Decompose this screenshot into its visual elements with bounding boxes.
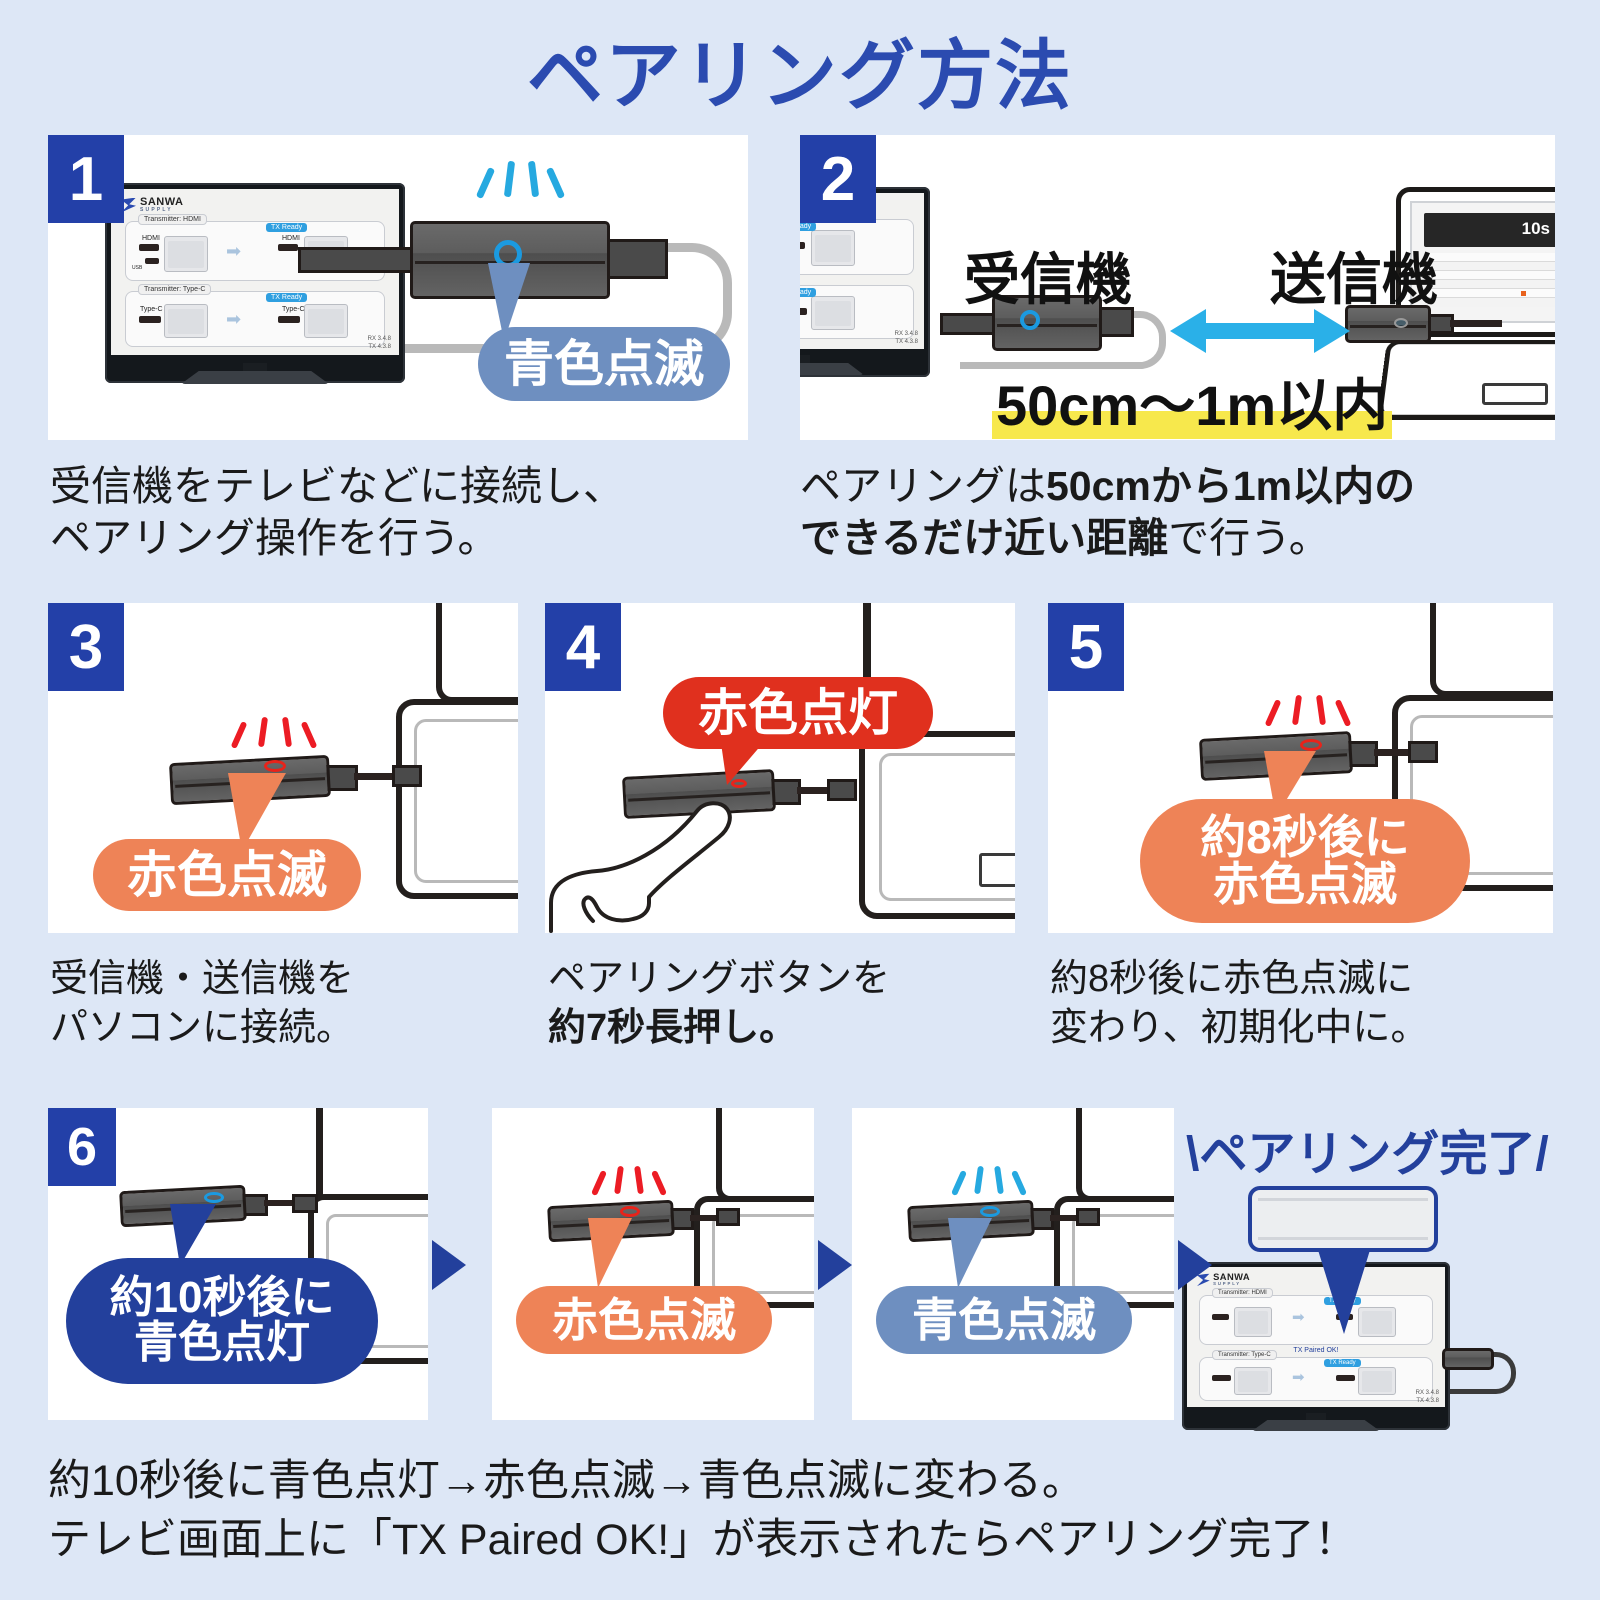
step-1-caption-line1: 受信機をテレビなどに接続し、 xyxy=(50,460,770,512)
step-5-caption-line2: 変わり、初期化中に。 xyxy=(1050,1004,1550,1053)
tv-laptop-icon xyxy=(164,236,208,272)
sequence-panel-red-blink: 赤色点滅 xyxy=(492,1108,814,1420)
step-5-badge-line1: 約8秒後に xyxy=(1200,814,1410,861)
receiver-dongle-complete xyxy=(1442,1348,1494,1370)
step-2-caption: ペアリングは50cmから1m以内の できるだけ近い距離で行う。 xyxy=(800,460,1590,564)
step-1-caption-line2: ペアリング操作を行う。 xyxy=(50,512,770,564)
step-1-number: 1 xyxy=(48,135,124,223)
laptop-illustration xyxy=(825,603,1015,933)
receiver-cable-tail xyxy=(1450,1389,1496,1394)
step-4-caption-line1: ペアリングボタンを xyxy=(548,955,1028,1004)
tv-group-typec-label: Transmitter: Type-C xyxy=(138,284,211,295)
typec-port-label: Type-C xyxy=(140,306,163,313)
laptop-lid xyxy=(1076,1108,1174,1202)
tv-laptop-icon-4 xyxy=(304,304,348,338)
hdmi-plug-icon xyxy=(139,244,159,251)
dongle-usb-plug xyxy=(292,1194,318,1213)
flash-ray-icon xyxy=(258,717,268,748)
flash-ray-icon xyxy=(528,161,539,198)
tv-laptop-icon xyxy=(811,296,855,330)
flash-ray-icon xyxy=(634,1166,644,1195)
step-2-caption-normal-b: で行う。 xyxy=(1168,515,1330,561)
typec-plug-icon-2 xyxy=(278,316,300,323)
step-4-panel: 4 赤色点灯 xyxy=(545,603,1015,933)
laptop-illustration xyxy=(1052,1108,1174,1418)
dongle-seam xyxy=(1350,325,1426,328)
step-2-caption-line1: ペアリングは50cmから1m以内の xyxy=(800,460,1590,512)
sequence-arrow-3-icon xyxy=(1178,1240,1212,1290)
badge-pointer-icon xyxy=(721,743,763,785)
bottom-caption-line2: テレビ画面上に「TX Paired OK!」が表示されたらペアリング完了！ xyxy=(48,1511,1548,1570)
flash-ray-icon xyxy=(282,717,292,748)
step-3-caption-line2: パソコンに接続。 xyxy=(50,1004,530,1053)
sequence-badge-red-blink: 赤色点滅 xyxy=(516,1286,772,1354)
step-1-caption: 受信機をテレビなどに接続し、 ペアリング操作を行う。 xyxy=(50,460,770,564)
flash-ray-icon xyxy=(546,167,565,199)
usb-plug-icon xyxy=(145,258,159,264)
tv-foot xyxy=(1252,1420,1380,1431)
step-6-badge: 約10秒後に 青色点灯 xyxy=(66,1258,378,1384)
laptop-illustration xyxy=(692,1108,814,1418)
badge-pointer-icon xyxy=(588,1218,632,1288)
flash-ray-icon xyxy=(591,1170,607,1196)
flash-ray-icon xyxy=(504,161,515,198)
step-2-caption-bold-b: できるだけ近い距離 xyxy=(800,515,1168,561)
flash-ray-icon xyxy=(974,1166,984,1195)
tx-ready-badge: TX Ready xyxy=(800,222,816,231)
laptop-timer-value: 10s xyxy=(1522,219,1550,239)
tv-laptop-icon xyxy=(811,230,855,266)
dongle-cord xyxy=(797,787,831,794)
tv-group-typec: Transmitter: Type-C ➡ TX Ready xyxy=(1199,1357,1433,1401)
receiver-cable-left xyxy=(940,313,1000,335)
step-4-number: 4 xyxy=(545,603,621,691)
led-red-indicator xyxy=(1300,739,1322,751)
step-5-badge: 約8秒後に 赤色点滅 xyxy=(1140,799,1470,923)
distance-text: 50cm～1m以内 xyxy=(992,361,1392,440)
laptop-lid xyxy=(716,1108,814,1202)
page-title: ペアリング方法 xyxy=(0,14,1600,124)
flash-ray-icon xyxy=(1011,1170,1027,1196)
flash-ray-icon xyxy=(301,721,318,749)
laptop-lid xyxy=(1430,603,1553,697)
step-2-number: 2 xyxy=(800,135,876,223)
sequence-arrow-1-icon xyxy=(432,1240,466,1290)
receiver-cable-left xyxy=(298,247,418,273)
tv-illustration-complete: SANWA SUPPLY Transmitter: HDMI ➡ TX Read… xyxy=(1182,1262,1450,1430)
hdmi-plug-icon xyxy=(1212,1314,1229,1320)
flash-ray-icon xyxy=(951,1170,967,1196)
flash-ray-icon xyxy=(1265,699,1282,727)
laptop-table xyxy=(1424,253,1555,311)
laptop-trackpad xyxy=(979,853,1015,887)
tx-ready-badge: TX Ready xyxy=(800,288,816,297)
tv-laptop-icon xyxy=(1358,1367,1396,1395)
tx-paired-callout xyxy=(1248,1186,1438,1252)
sanwa-logo: SANWA SUPPLY xyxy=(121,197,183,213)
dongle-usb-plug xyxy=(1076,1208,1100,1226)
step-3-badge: 赤色点滅 xyxy=(93,839,361,911)
sequence-panel-blue-blink: 青色点滅 xyxy=(852,1108,1174,1420)
sanwa-brand-sub: SUPPLY xyxy=(1213,1282,1250,1286)
flow-arrow-icon: ➡ xyxy=(1292,1370,1305,1385)
usb-port-label: USB xyxy=(132,265,142,271)
sequence-arrow-2-icon xyxy=(818,1240,852,1290)
tv-model-code: RX 3.4.8 TX 4.3.8 xyxy=(1416,1389,1439,1405)
dongle-usb-plug xyxy=(392,765,422,787)
tx-ready-badge: TX Ready xyxy=(1324,1359,1361,1367)
laptop-base xyxy=(1376,340,1555,420)
laptop-base-inner xyxy=(712,1214,814,1294)
step-5-caption: 約8秒後に赤色点滅に 変わり、初期化中に。 xyxy=(1050,955,1550,1054)
infographic-page: ペアリング方法 1 SANWA SUPPLY Transmitter: HDMI xyxy=(0,0,1600,1600)
tv-laptop-icon xyxy=(1234,1367,1272,1395)
flash-ray-icon xyxy=(1335,699,1352,727)
dongle-usb-plug xyxy=(1408,741,1438,763)
step-6-badge-line2: 青色点灯 xyxy=(134,1321,310,1366)
tv-group-hdmi-label: Transmitter: HDMI xyxy=(138,214,207,225)
typec-plug-icon xyxy=(1212,1375,1231,1381)
tv-group-hdmi-label: Transmitter: HDMI xyxy=(1212,1288,1273,1298)
completion-heading: \ペアリング完了/ xyxy=(1186,1114,1549,1184)
receiver-plug xyxy=(606,239,668,279)
led-blue-indicator xyxy=(980,1206,1000,1217)
step-3-panel: 3 赤色点滅 xyxy=(48,603,518,933)
step-1-badge: 青色点滅 xyxy=(478,327,730,401)
tv-group-typec: Transmitter: Type-C Type-C ➡ Type-C TX R… xyxy=(125,291,385,347)
flash-ray-icon xyxy=(1316,695,1326,726)
flash-ray-icon xyxy=(476,167,495,199)
completion-block: \ペアリング完了/ SANWA SUPPLY Transmitter: HDMI xyxy=(1160,1100,1580,1430)
step-3-number: 3 xyxy=(48,603,124,691)
badge-pointer-icon xyxy=(170,1204,216,1266)
hdmi-port-label: HDMI xyxy=(142,235,160,242)
flash-ray-icon xyxy=(231,721,248,749)
tv-model-code: RX 3.4.8 TX 4.3.8 xyxy=(368,335,391,351)
transmitter-led xyxy=(1394,318,1408,328)
badge-pointer-icon xyxy=(948,1218,992,1288)
step-5-panel: 5 約8秒後に 赤色点滅 xyxy=(1048,603,1553,933)
step-3-caption: 受信機・送信機を パソコンに接続。 xyxy=(50,955,530,1054)
flash-ray-icon xyxy=(994,1166,1004,1195)
step-1-panel: 1 SANWA SUPPLY Transmitter: HDMI HDMI xyxy=(48,135,748,440)
tv-model-code: RX 3.4.8 TX 4.3.8 xyxy=(895,330,918,346)
led-red-indicator xyxy=(264,760,286,772)
dongle-usb-plug xyxy=(827,779,857,801)
laptop-trackpad xyxy=(1482,383,1548,405)
tv-illustration: SANWA SUPPLY Transmitter: HDMI HDMI USB … xyxy=(105,183,405,383)
flash-ray-icon xyxy=(651,1170,667,1196)
step-2-panel: 2 TX Ready ➡ TX Ready ➡ RX 3.4.8 xyxy=(800,135,1555,440)
laptop-base-inner xyxy=(414,719,518,883)
dongle-seam xyxy=(997,324,1097,327)
bottom-caption: 約10秒後に青色点灯→赤色点滅→青色点滅に変わる。 テレビ画面上に「TX Pai… xyxy=(48,1452,1548,1571)
flow-arrow-icon: ➡ xyxy=(1292,1310,1305,1325)
step-3-caption-line1: 受信機・送信機を xyxy=(50,955,530,1004)
typec-plug-icon xyxy=(139,316,161,323)
tx-ready-badge-2: TX Ready xyxy=(266,293,307,302)
tv-foot xyxy=(181,371,329,384)
tv-group-hdmi: Transmitter: HDMI ➡ TX Ready xyxy=(1199,1295,1433,1345)
typec-plug-icon xyxy=(1336,1375,1355,1381)
step-2-caption-normal-a: ペアリングは xyxy=(800,463,1046,509)
laptop-lid xyxy=(436,603,518,703)
flow-arrow-icon-2: ➡ xyxy=(226,310,241,328)
step-4-badge: 赤色点灯 xyxy=(663,677,933,749)
tv-laptop-icon xyxy=(1234,1307,1272,1337)
step-6-number: 6 xyxy=(48,1108,116,1186)
step-5-caption-line1: 約8秒後に赤色点滅に xyxy=(1050,955,1550,1004)
hdmi-plug-icon xyxy=(800,242,805,249)
dongle-usb-plug xyxy=(716,1208,740,1226)
laptop-base-inner xyxy=(1072,1214,1174,1294)
typec-plug-icon xyxy=(800,308,807,315)
flash-ray-icon xyxy=(614,1166,624,1195)
led-blue-indicator xyxy=(204,1192,224,1203)
step-6-panel: 6 約10秒後に 青色点灯 xyxy=(48,1108,428,1420)
tx-paired-callout-pointer-icon xyxy=(1318,1250,1370,1334)
tv-screen-complete: SANWA SUPPLY Transmitter: HDMI ➡ TX Read… xyxy=(1187,1267,1445,1407)
step-2-caption-bold-a: 50cmから1m以内の xyxy=(1046,463,1415,509)
flow-arrow-icon: ➡ xyxy=(226,242,241,260)
sequence-badge-blue-blink: 青色点滅 xyxy=(876,1286,1132,1354)
step-2-caption-line2: できるだけ近い距離で行う。 xyxy=(800,512,1590,564)
receiver-label: 受信機 xyxy=(964,235,1132,316)
typec-port-label-2: Type-C xyxy=(282,306,305,313)
step-4-caption-line2: 約7秒長押し。 xyxy=(548,1004,1028,1053)
tv-laptop-icon-3 xyxy=(164,304,208,338)
tv-group-hdmi-partial: TX Ready ➡ xyxy=(800,219,914,275)
flash-ray-icon xyxy=(1292,695,1302,726)
step-5-badge-line2: 赤色点滅 xyxy=(1213,861,1397,908)
tx-ready-badge: TX Ready xyxy=(266,223,307,232)
led-red-indicator xyxy=(620,1206,640,1217)
hdmi-port-label-2: HDMI xyxy=(282,235,300,242)
step-5-number: 5 xyxy=(1048,603,1124,691)
hdmi-plug-icon-2 xyxy=(278,244,298,251)
sanwa-brand-sub: SUPPLY xyxy=(140,208,183,213)
step-6-badge-line1: 約10秒後に xyxy=(110,1276,335,1321)
transmitter-label: 送信機 xyxy=(1270,235,1438,316)
bottom-caption-line1: 約10秒後に青色点灯→赤色点滅→青色点滅に変わる。 xyxy=(48,1452,1548,1511)
transmitter-cord xyxy=(1450,320,1502,327)
step-4-caption: ペアリングボタンを 約7秒長押し。 xyxy=(548,955,1028,1054)
tv-group-typec-label: Transmitter: Type-C xyxy=(1212,1350,1277,1360)
